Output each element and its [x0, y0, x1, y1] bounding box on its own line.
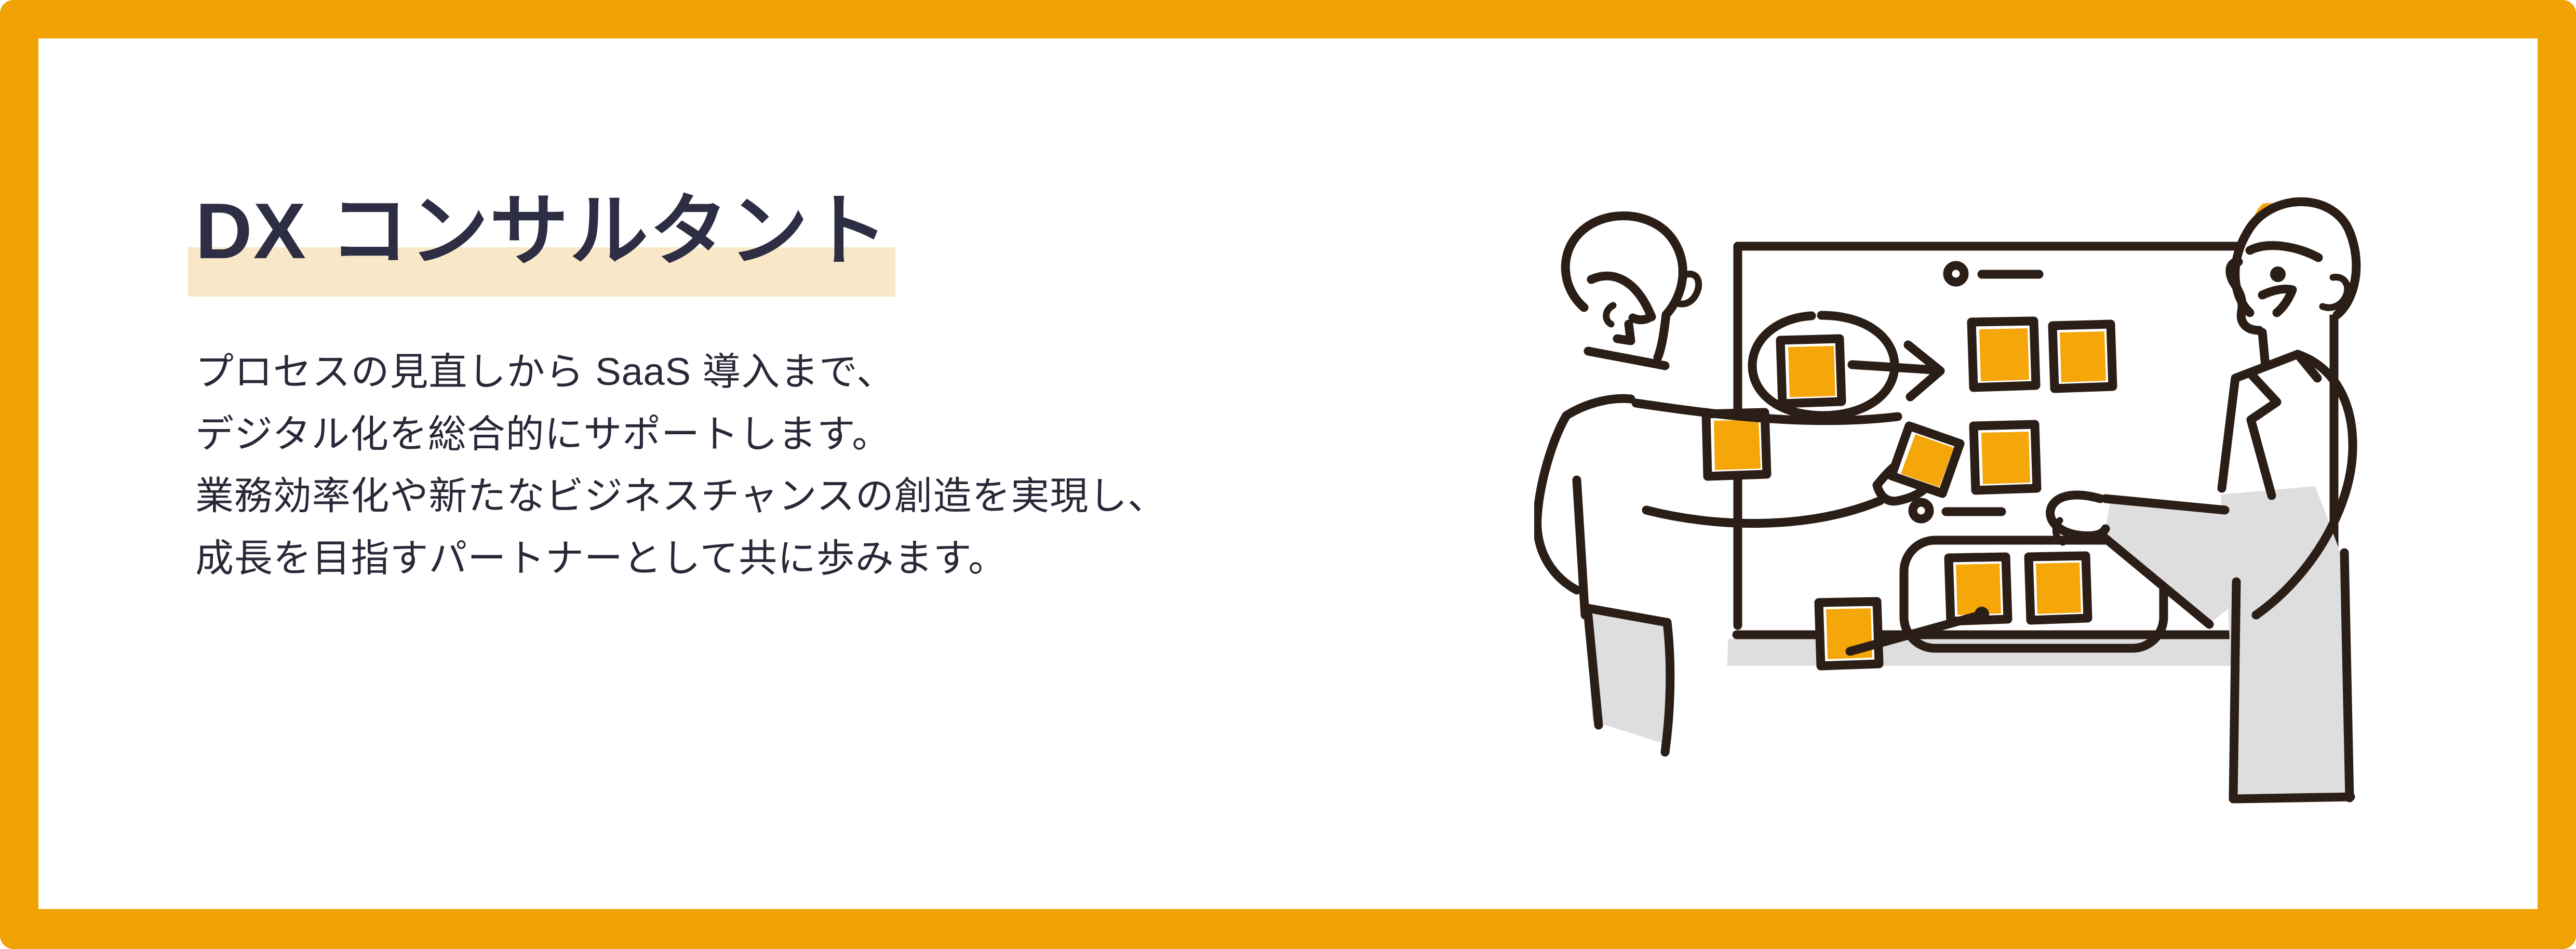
- arrow-right-shaft: [1852, 365, 1933, 370]
- figure-right-tie: [2251, 374, 2277, 496]
- figure-right-eye: [2270, 266, 2286, 282]
- page-title: DX コンサルタント: [195, 179, 889, 285]
- sticky-note-r3: [1974, 424, 2037, 490]
- figure-right-lapel-left: [2222, 354, 2317, 488]
- text-column: DX コンサルタント プロセスの見直しから SaaS 導入まで、 デジタル化を総…: [153, 179, 1503, 590]
- body-line-1: プロセスの見直しから SaaS 導入まで、: [195, 341, 1503, 403]
- figure-right-hem: [2236, 797, 2351, 799]
- figure-left: [1537, 216, 1960, 752]
- body-line-2: デジタル化を総合的にサポートします。: [195, 403, 1503, 465]
- sticky-note-in-hand: [1891, 426, 1960, 493]
- sticky-note-circled: [1780, 339, 1842, 404]
- figure-right-inner-leg: [2233, 582, 2236, 799]
- bullet-marker-top: [1948, 265, 2039, 282]
- figure-right-side: [2344, 553, 2350, 798]
- figure-left-back: [1537, 416, 1577, 590]
- body-line-3: 業務効率化や新たなビジネスチャンスの創造を実現し、: [195, 465, 1503, 527]
- white-content-panel: DX コンサルタント プロセスの見直しから SaaS 導入まで、 デジタル化を総…: [38, 38, 2538, 909]
- figure-left-mouth: [1633, 317, 1651, 320]
- dx-consultant-banner: DX コンサルタント プロセスの見直しから SaaS 導入まで、 デジタル化を総…: [0, 0, 2576, 949]
- figure-right: [2050, 202, 2356, 799]
- sticky-note-g2: [2029, 556, 2088, 620]
- figure-left-front-seam: [1577, 480, 1585, 615]
- figure-right-hand: [2050, 495, 2105, 542]
- figure-right-neck: [2262, 332, 2265, 366]
- figure-left-head: [1565, 216, 1698, 366]
- body-copy: プロセスの見直しから SaaS 導入まで、 デジタル化を総合的にサポートします。…: [195, 341, 1503, 590]
- figure-left-shoulder: [1566, 398, 1631, 416]
- arrow-into-group-dot: [1975, 607, 1989, 621]
- figure-left-skirt-right: [1665, 622, 1670, 752]
- sticky-note-r2: [2052, 324, 2113, 389]
- sticky-note-r1: [1971, 321, 2036, 387]
- workshop-illustration-svg: .st { fill:none; stroke:#2A1E17; stroke-…: [1534, 168, 2469, 875]
- body-line-4: 成長を目指すパートナーとして共に歩みます。: [195, 527, 1503, 590]
- figure-left-collar-v: [1617, 324, 1631, 341]
- bullet-marker-bottom: [1913, 502, 2002, 519]
- sticky-note-bl: [1819, 602, 1879, 666]
- page-title-block: DX コンサルタント: [188, 179, 895, 285]
- workshop-illustration: .st { fill:none; stroke:#2A1E17; stroke-…: [1534, 168, 2469, 875]
- figure-left-arm-bottom: [1646, 501, 1880, 524]
- figure-right-head: [2230, 202, 2356, 330]
